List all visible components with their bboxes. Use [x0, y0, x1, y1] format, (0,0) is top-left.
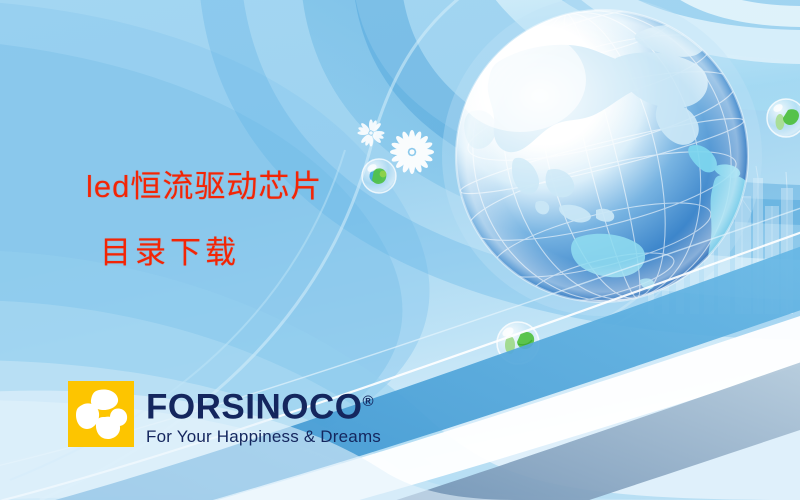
bubble-globe — [362, 159, 396, 193]
four-petal-pinwheel-icon — [68, 381, 134, 447]
logo-mark — [68, 381, 134, 447]
logo-tagline: For Your Happiness & Dreams — [146, 427, 381, 447]
registered-trademark-symbol: ® — [362, 393, 373, 410]
headline-text: led恒流驱动芯片 目录下载 — [86, 166, 322, 274]
logo-wordmark: FORSINOCO® — [146, 384, 381, 426]
company-logo[interactable]: FORSINOCO® For Your Happiness & Dreams — [68, 381, 381, 447]
daisy-flower-small — [357, 119, 384, 146]
daisy-flower-large — [390, 130, 434, 174]
logo-text-block: FORSINOCO® For Your Happiness & Dreams — [146, 381, 381, 447]
headline-line-2: 目录下载 — [100, 232, 322, 274]
logo-wordmark-text: FORSINOCO — [146, 388, 362, 427]
banner-canvas: led恒流驱动芯片 目录下载 FORSINOCO® For Your Happi… — [0, 0, 800, 500]
headline-line-1: led恒流驱动芯片 — [86, 169, 322, 204]
bubble-leaf — [767, 99, 800, 137]
